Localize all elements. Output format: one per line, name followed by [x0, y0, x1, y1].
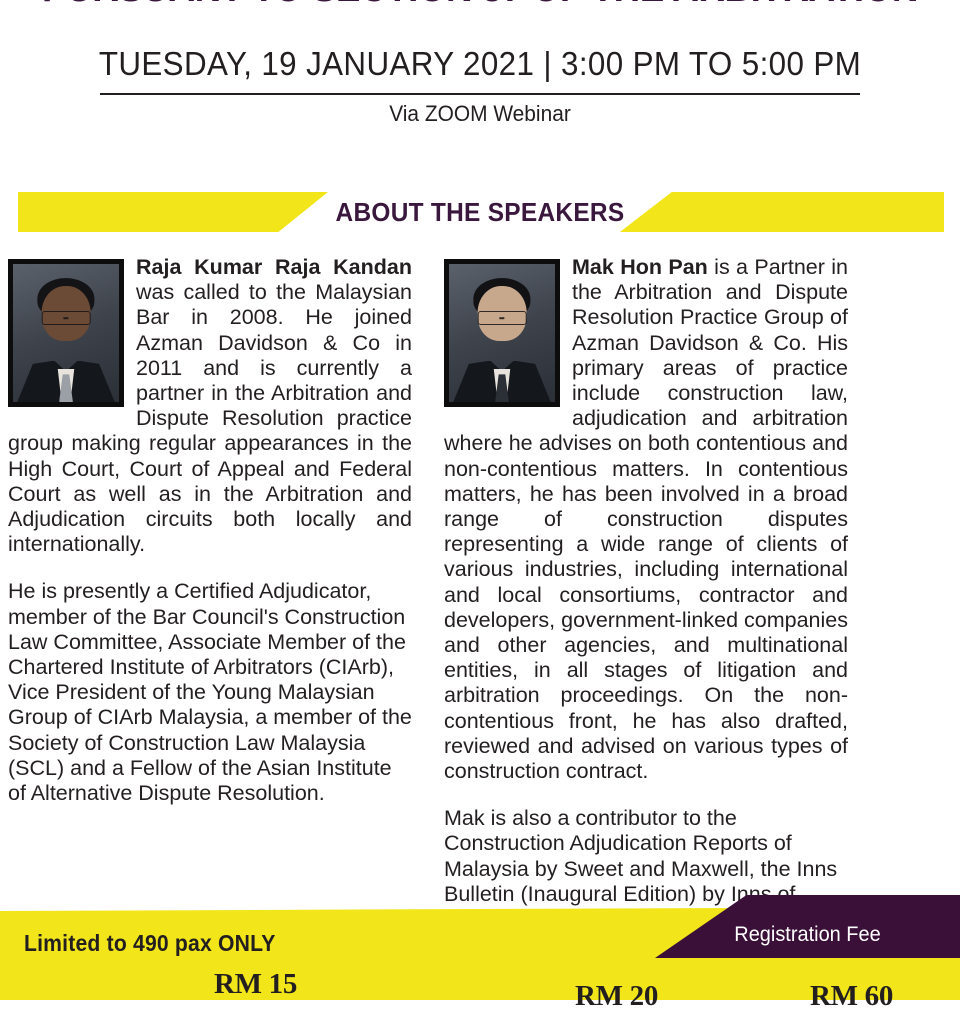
eyeglasses-icon — [42, 311, 91, 325]
price-value-1: RM 15 — [214, 968, 297, 1001]
event-platform: Via ZOOM Webinar — [24, 99, 936, 129]
price-value-2: RM 20 — [575, 980, 658, 1013]
about-the-speakers-banner: ABOUT THE SPEAKERS — [0, 192, 960, 232]
speaker-photo-raja-kumar — [8, 259, 124, 407]
speaker-card-mak-hon-pan: Mak Hon Pan is a Partner in the Arbitrat… — [444, 255, 848, 983]
speaker-bio-paragraph-2: He is presently a Certified Adjudicator,… — [8, 579, 412, 806]
page-title: PURSUANT TO SECTION 37 OF THE ARBITRATIO… — [38, 0, 921, 10]
section-heading: ABOUT THE SPEAKERS — [29, 192, 931, 232]
registration-fee-label: Registration Fee — [663, 895, 953, 958]
speaker-card-raja-kumar: Raja Kumar Raja Kandan was called to the… — [8, 255, 412, 983]
price-value-3: RM 60 — [810, 980, 893, 1013]
speaker-bio-paragraph: Raja Kumar Raja Kandan was called to the… — [8, 255, 412, 557]
speaker-name: Raja Kumar Raja Kandan — [136, 255, 412, 279]
event-datetime: TUESDAY, 19 JANUARY 2021 | 3:00 PM TO 5:… — [24, 44, 936, 84]
capacity-note: Limited to 490 pax ONLY — [24, 930, 276, 957]
eyeglasses-icon — [478, 311, 527, 325]
speaker-bio-paragraph: Mak Hon Pan is a Partner in the Arbitrat… — [444, 255, 848, 784]
speakers-section: Raja Kumar Raja Kandan was called to the… — [0, 255, 960, 983]
header-divider — [100, 93, 860, 95]
speaker-name: Mak Hon Pan — [572, 255, 708, 279]
speaker-photo-mak-hon-pan — [444, 259, 560, 407]
registration-footer: Limited to 490 pax ONLY Registration Fee… — [0, 880, 960, 1000]
